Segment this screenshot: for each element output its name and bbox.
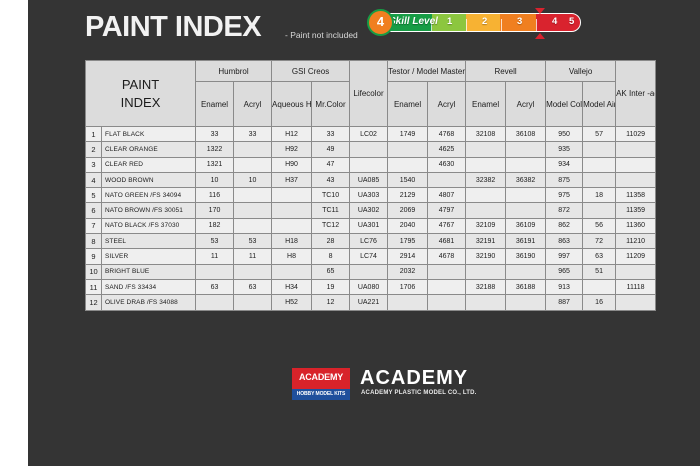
table-group-header-row: PAINT INDEX Humbrol GSI Creos Lifecolor … [86,61,656,82]
cell-revell-acryl [506,264,546,279]
paint-name: FLAT BLACK [102,127,196,142]
col-testor-acryl: Acryl [428,82,466,127]
cell-testor-acryl: 4678 [428,249,466,264]
cell-revell-acryl [506,188,546,203]
cell-revell-enamel [466,203,506,218]
row-number: 3 [86,157,102,172]
cell-vallejo-color: 934 [546,157,583,172]
paint-name: CLEAR RED [102,157,196,172]
cell-vallejo-color: 975 [546,188,583,203]
cell-humbrol-acryl: 33 [234,127,272,142]
cell-gsi-aqueous: H92 [272,142,312,157]
row-number: 10 [86,264,102,279]
cell-testor-acryl: 4768 [428,127,466,142]
cell-lifecolor: UA221 [350,295,388,310]
table-row: 1FLAT BLACK3333H1233LC021749476832108361… [86,127,656,142]
academy-logo-tagline-bar: HOBBY MODEL KITS [292,389,350,400]
cell-vallejo-air [583,203,616,218]
academy-wordmark: ACADEMY [360,367,468,389]
row-number: 12 [86,295,102,310]
cell-vallejo-air: 16 [583,295,616,310]
cell-gsi-aqueous: H90 [272,157,312,172]
cell-vallejo-air [583,172,616,187]
cell-ak: 11118 [616,279,656,294]
skill-level-badge: 4 [367,9,394,36]
row-number: 5 [86,188,102,203]
col-humbrol-acryl: Acryl [234,82,272,127]
cell-testor-enamel [388,295,428,310]
cell-gsi-mrcolor: 49 [312,142,350,157]
cell-gsi-mrcolor: 8 [312,249,350,264]
cell-revell-enamel: 32190 [466,249,506,264]
cell-lifecolor: UA302 [350,203,388,218]
cell-revell-acryl: 36382 [506,172,546,187]
cell-gsi-aqueous [272,264,312,279]
cell-gsi-mrcolor: 47 [312,157,350,172]
cell-gsi-aqueous [272,218,312,233]
cell-vallejo-color: 950 [546,127,583,142]
table-body: 1FLAT BLACK3333H1233LC021749476832108361… [86,127,656,311]
cell-testor-enamel: 2040 [388,218,428,233]
table-row: 3CLEAR RED1321H90474630934 [86,157,656,172]
col-revell-acryl: Acryl [506,82,546,127]
paint-index-page: PAINT INDEX - Paint not included Skill L… [0,0,700,466]
skill-marker-top-icon [535,8,545,14]
cell-vallejo-color: 965 [546,264,583,279]
col-vallejo-color: Model Color [546,82,583,127]
group-gsi-creos: GSI Creos [272,61,350,82]
cell-lifecolor: UA085 [350,172,388,187]
paint-name: BRIGHT BLUE [102,264,196,279]
cell-revell-enamel [466,142,506,157]
cell-ak: 11029 [616,127,656,142]
cell-revell-enamel [466,295,506,310]
cell-humbrol-acryl [234,295,272,310]
cell-testor-enamel: 2914 [388,249,428,264]
page-title: PAINT INDEX [85,10,261,44]
paint-name: STEEL [102,234,196,249]
cell-lifecolor: LC76 [350,234,388,249]
cell-humbrol-enamel: 53 [196,234,234,249]
paint-name: WOOD BROWN [102,172,196,187]
cell-revell-enamel: 32188 [466,279,506,294]
table-row: 10BRIGHT BLUE65203296551 [86,264,656,279]
paint-name: NATO GREEN /FS 34094 [102,188,196,203]
cell-humbrol-enamel: 1322 [196,142,234,157]
table-row: 6NATO BROWN /FS 30051170TC11UA3022069479… [86,203,656,218]
cell-revell-acryl [506,157,546,172]
academy-logo-tagline: HOBBY MODEL KITS [292,391,350,397]
cell-lifecolor [350,264,388,279]
cell-testor-enamel: 1540 [388,172,428,187]
cell-ak: 11359 [616,203,656,218]
cell-humbrol-enamel: 182 [196,218,234,233]
cell-revell-enamel: 32108 [466,127,506,142]
cell-vallejo-color: 872 [546,203,583,218]
cell-vallejo-air: 51 [583,264,616,279]
cell-ak: 11209 [616,249,656,264]
cell-gsi-mrcolor: 33 [312,127,350,142]
paint-name: SILVER [102,249,196,264]
cell-humbrol-enamel: 33 [196,127,234,142]
row-number: 1 [86,127,102,142]
row-number: 2 [86,142,102,157]
cell-humbrol-acryl [234,188,272,203]
row-number: 11 [86,279,102,294]
cell-vallejo-air [583,279,616,294]
cell-testor-enamel: 2069 [388,203,428,218]
cell-revell-enamel [466,157,506,172]
col-testor-enamel: Enamel [388,82,428,127]
group-ak: AK Inter -active [616,61,656,127]
cell-testor-enamel: 1749 [388,127,428,142]
cell-testor-enamel [388,142,428,157]
cell-vallejo-air: 63 [583,249,616,264]
cell-revell-acryl: 36191 [506,234,546,249]
cell-vallejo-color: 935 [546,142,583,157]
col-gsi-aqueous: Aqueous Hobby Color [272,82,312,127]
cell-gsi-aqueous: H37 [272,172,312,187]
page-subtitle: - Paint not included [285,30,358,40]
cell-humbrol-enamel [196,295,234,310]
cell-lifecolor: UA301 [350,218,388,233]
cell-testor-enamel: 2129 [388,188,428,203]
cell-revell-enamel [466,264,506,279]
cell-vallejo-color: 863 [546,234,583,249]
cell-humbrol-acryl [234,218,272,233]
col-gsi-mrcolor: Mr.Color [312,82,350,127]
cell-revell-acryl [506,295,546,310]
row-number: 7 [86,218,102,233]
cell-vallejo-color: 913 [546,279,583,294]
col-revell-enamel: Enamel [466,82,506,127]
cell-vallejo-air: 56 [583,218,616,233]
cell-humbrol-enamel: 11 [196,249,234,264]
skill-level-4: 4 [552,16,557,27]
cell-gsi-aqueous [272,203,312,218]
table-row: 9SILVER1111H88LC742914467832190361909976… [86,249,656,264]
cell-gsi-aqueous [272,188,312,203]
cell-ak [616,295,656,310]
cell-gsi-mrcolor: 65 [312,264,350,279]
group-humbrol: Humbrol [196,61,272,82]
cell-revell-enamel [466,188,506,203]
cell-lifecolor: LC02 [350,127,388,142]
cell-gsi-mrcolor: 19 [312,279,350,294]
academy-company-name: ACADEMY PLASTIC MODEL CO., LTD. [361,390,477,396]
cell-vallejo-air: 57 [583,127,616,142]
cell-humbrol-enamel: 63 [196,279,234,294]
corner-label-line1: PAINT [86,76,195,94]
cell-testor-acryl: 4630 [428,157,466,172]
footer-logos: ACADEMY HOBBY MODEL KITS ACADEMY ACADEMY… [292,364,482,406]
cell-vallejo-air [583,157,616,172]
cell-gsi-aqueous: H18 [272,234,312,249]
paint-index-table-container: PAINT INDEX Humbrol GSI Creos Lifecolor … [85,60,642,311]
cell-gsi-mrcolor: 12 [312,295,350,310]
cell-humbrol-enamel: 116 [196,188,234,203]
cell-ak: 11360 [616,218,656,233]
cell-humbrol-acryl [234,157,272,172]
skill-level-indicator: Skill Level 1 2 3 4 5 4 [367,9,583,37]
row-number: 9 [86,249,102,264]
cell-vallejo-color: 997 [546,249,583,264]
cell-testor-acryl [428,279,466,294]
cell-gsi-mrcolor: TC11 [312,203,350,218]
cell-revell-acryl: 36109 [506,218,546,233]
group-vallejo: Vallejo [546,61,616,82]
cell-revell-enamel: 32109 [466,218,506,233]
cell-vallejo-air [583,142,616,157]
cell-vallejo-air: 18 [583,188,616,203]
cell-humbrol-acryl [234,264,272,279]
cell-ak [616,157,656,172]
cell-revell-acryl: 36108 [506,127,546,142]
group-testor: Testor / Model Master [388,61,466,82]
academy-logo-mark: ACADEMY HOBBY MODEL KITS [292,368,350,400]
cell-humbrol-acryl [234,203,272,218]
paint-name: SAND /FS 33434 [102,279,196,294]
cell-testor-acryl: 4681 [428,234,466,249]
cell-humbrol-enamel: 1321 [196,157,234,172]
paint-index-table: PAINT INDEX Humbrol GSI Creos Lifecolor … [85,60,656,311]
paint-name: OLIVE DRAB /FS 34088 [102,295,196,310]
table-row: 5NATO GREEN /FS 34094116TC10UA3032129480… [86,188,656,203]
table-row: 4WOOD BROWN1010H3743UA085154032382363828… [86,172,656,187]
row-number: 4 [86,172,102,187]
cell-gsi-aqueous: H34 [272,279,312,294]
cell-testor-enamel: 2032 [388,264,428,279]
table-row: 12OLIVE DRAB /FS 34088H5212UA22188716 [86,295,656,310]
cell-humbrol-acryl [234,142,272,157]
group-lifecolor: Lifecolor [350,61,388,127]
skill-level-2: 2 [482,16,487,27]
cell-humbrol-enamel: 170 [196,203,234,218]
dark-panel: PAINT INDEX - Paint not included Skill L… [28,0,700,466]
cell-revell-enamel: 32191 [466,234,506,249]
col-humbrol-enamel: Enamel [196,82,234,127]
academy-logo-text: ACADEMY [292,372,350,382]
cell-lifecolor: UA080 [350,279,388,294]
skill-level-3: 3 [517,16,522,27]
cell-revell-acryl [506,142,546,157]
cell-humbrol-acryl: 10 [234,172,272,187]
group-revell: Revell [466,61,546,82]
corner-label-line2: INDEX [86,94,195,112]
cell-vallejo-air: 72 [583,234,616,249]
cell-ak [616,142,656,157]
skill-level-5: 5 [569,16,574,27]
cell-ak [616,264,656,279]
cell-testor-acryl: 4625 [428,142,466,157]
cell-testor-acryl [428,295,466,310]
cell-testor-enamel: 1706 [388,279,428,294]
table-corner-label: PAINT INDEX [86,61,196,127]
table-row: 11SAND /FS 334346363H3419UA0801706321883… [86,279,656,294]
skill-marker-bottom-icon [535,33,545,39]
cell-testor-enamel: 1795 [388,234,428,249]
paint-name: NATO BLACK /FS 37030 [102,218,196,233]
cell-gsi-mrcolor: 28 [312,234,350,249]
cell-testor-acryl: 4807 [428,188,466,203]
col-vallejo-air: Model Air [583,82,616,127]
paint-name: CLEAR ORANGE [102,142,196,157]
cell-humbrol-enamel [196,264,234,279]
cell-lifecolor: UA303 [350,188,388,203]
cell-lifecolor: LC74 [350,249,388,264]
cell-ak: 11358 [616,188,656,203]
cell-vallejo-color: 887 [546,295,583,310]
cell-lifecolor [350,157,388,172]
cell-ak: 11210 [616,234,656,249]
cell-testor-acryl: 4767 [428,218,466,233]
cell-humbrol-enamel: 10 [196,172,234,187]
cell-gsi-mrcolor: 43 [312,172,350,187]
row-number: 8 [86,234,102,249]
skill-level-label: Skill Level [389,16,438,27]
table-row: 2CLEAR ORANGE1322H92494625935 [86,142,656,157]
cell-testor-acryl: 4797 [428,203,466,218]
cell-vallejo-color: 875 [546,172,583,187]
cell-gsi-aqueous: H8 [272,249,312,264]
cell-ak [616,172,656,187]
cell-testor-enamel [388,157,428,172]
cell-gsi-mrcolor: TC10 [312,188,350,203]
cell-vallejo-color: 862 [546,218,583,233]
cell-humbrol-acryl: 11 [234,249,272,264]
cell-humbrol-acryl: 53 [234,234,272,249]
cell-revell-acryl: 36188 [506,279,546,294]
skill-level-1: 1 [447,16,452,27]
cell-gsi-aqueous: H12 [272,127,312,142]
cell-revell-acryl [506,203,546,218]
cell-humbrol-acryl: 63 [234,279,272,294]
table-row: 8STEEL5353H1828LC76179546813219136191863… [86,234,656,249]
row-number: 6 [86,203,102,218]
cell-testor-acryl [428,172,466,187]
cell-gsi-aqueous: H52 [272,295,312,310]
table-row: 7NATO BLACK /FS 37030182TC12UA3012040476… [86,218,656,233]
cell-revell-acryl: 36190 [506,249,546,264]
cell-revell-enamel: 32382 [466,172,506,187]
paint-name: NATO BROWN /FS 30051 [102,203,196,218]
cell-lifecolor [350,142,388,157]
cell-gsi-mrcolor: TC12 [312,218,350,233]
cell-testor-acryl [428,264,466,279]
